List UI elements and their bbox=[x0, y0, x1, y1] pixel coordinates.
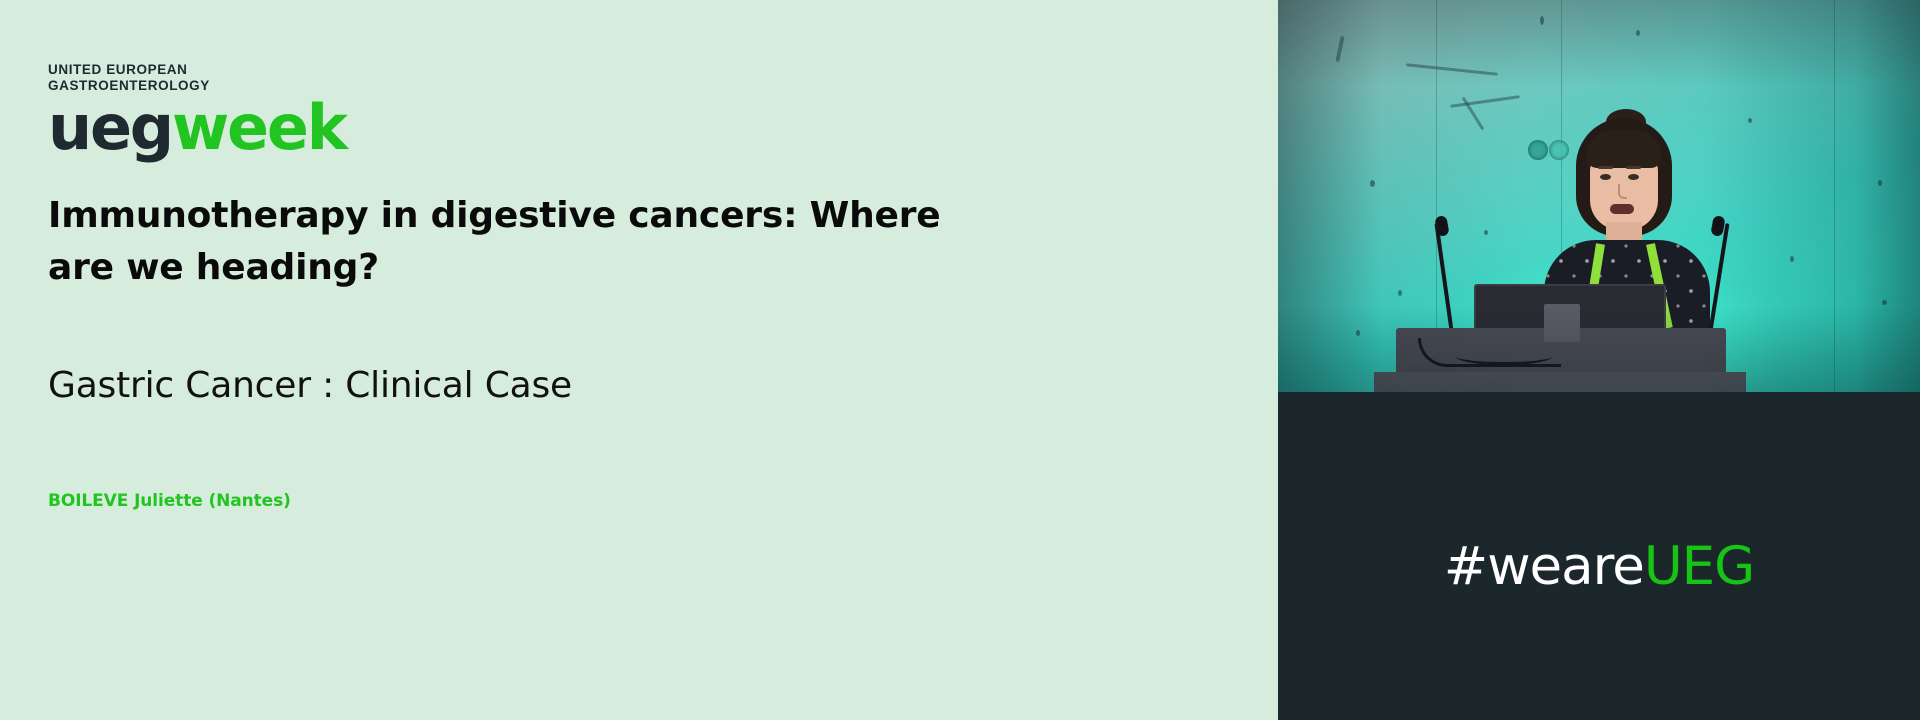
hashtag-band: #weareUEG bbox=[1278, 392, 1920, 720]
logo-supertext: UNITED EUROPEAN GASTROENTEROLOGY bbox=[48, 62, 346, 93]
hashtag-weare: #weare bbox=[1444, 536, 1644, 597]
slide-speaker-credit: BOILEVE Juliette (Nantes) bbox=[48, 490, 291, 512]
hashtag-text: #weareUEG bbox=[1278, 537, 1920, 597]
slide-title-line-2: are we heading? bbox=[48, 242, 988, 294]
slide-panel: UNITED EUROPEAN GASTROENTEROLOGY uegweek… bbox=[0, 0, 1278, 720]
logo-word-ueg: ueg bbox=[48, 91, 172, 164]
logo-word-week: week bbox=[172, 91, 346, 164]
video-and-branding-panel: #weareUEG bbox=[1278, 0, 1920, 720]
speaker-video-feed[interactable] bbox=[1278, 0, 1920, 392]
slide-title: Immunotherapy in digestive cancers: Wher… bbox=[48, 190, 988, 294]
slide-subtitle: Gastric Cancer : Clinical Case bbox=[48, 362, 1028, 410]
ueg-week-logo: UNITED EUROPEAN GASTROENTEROLOGY uegweek bbox=[48, 62, 346, 159]
slide-title-line-1: Immunotherapy in digestive cancers: Wher… bbox=[48, 190, 988, 242]
video-vignette bbox=[1278, 0, 1920, 392]
logo-supertext-line-1: UNITED EUROPEAN bbox=[48, 62, 346, 78]
presentation-screenshot: UNITED EUROPEAN GASTROENTEROLOGY uegweek… bbox=[0, 0, 1920, 720]
hashtag-ueg: UEG bbox=[1644, 536, 1754, 597]
logo-wordmark: uegweek bbox=[48, 97, 346, 159]
